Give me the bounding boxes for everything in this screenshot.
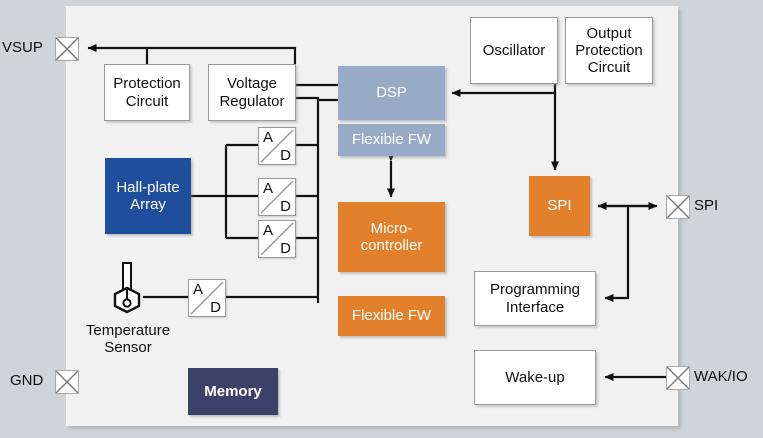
pin-label-vsup: VSUP [2, 39, 43, 56]
block-flexible-fw-mcu[interactable]: Flexible FW [338, 296, 445, 336]
adc-block-1[interactable]: A D [258, 127, 296, 165]
block-memory[interactable]: Memory [188, 368, 278, 415]
block-microcontroller[interactable]: Micro- controller [338, 202, 445, 272]
pin-label-gnd: GND [10, 372, 43, 389]
pin-label-spi: SPI [694, 197, 718, 214]
pin-pad-vsup[interactable] [55, 37, 79, 61]
block-output-protection-circuit[interactable]: Output Protection Circuit [565, 17, 653, 84]
adc-label-d: D [280, 240, 291, 257]
block-flexible-fw-dsp[interactable]: Flexible FW [338, 124, 445, 156]
pin-label-wakio: WAK/IO [694, 368, 748, 385]
pin-pad-wakio[interactable] [666, 366, 690, 390]
block-wake-up[interactable]: Wake-up [474, 350, 596, 405]
block-hall-plate-array[interactable]: Hall-plate Array [105, 158, 191, 234]
adc-block-4[interactable]: A D [188, 279, 226, 317]
pin-pad-gnd[interactable] [55, 370, 79, 394]
block-voltage-regulator[interactable]: Voltage Regulator [208, 64, 296, 121]
adc-block-3[interactable]: A D [258, 220, 296, 258]
block-spi[interactable]: SPI [529, 176, 590, 236]
block-oscillator[interactable]: Oscillator [470, 17, 558, 84]
diagram-canvas: VSUP GND SPI WAK/IO Protection Circuit V… [0, 0, 763, 438]
adc-label-a: A [263, 180, 273, 197]
adc-label-d: D [210, 299, 221, 316]
adc-label-d: D [280, 198, 291, 215]
adc-block-2[interactable]: A D [258, 178, 296, 216]
thermometer-icon [105, 262, 149, 318]
temperature-sensor-caption: Temperature Sensor [78, 322, 178, 357]
block-programming-interface[interactable]: Programming Interface [474, 271, 596, 326]
adc-label-a: A [263, 129, 273, 146]
block-dsp[interactable]: DSP [338, 66, 445, 120]
adc-label-d: D [280, 147, 291, 164]
adc-label-a: A [193, 281, 203, 298]
pin-pad-spi[interactable] [666, 195, 690, 219]
block-protection-circuit[interactable]: Protection Circuit [104, 64, 190, 121]
adc-label-a: A [263, 222, 273, 239]
